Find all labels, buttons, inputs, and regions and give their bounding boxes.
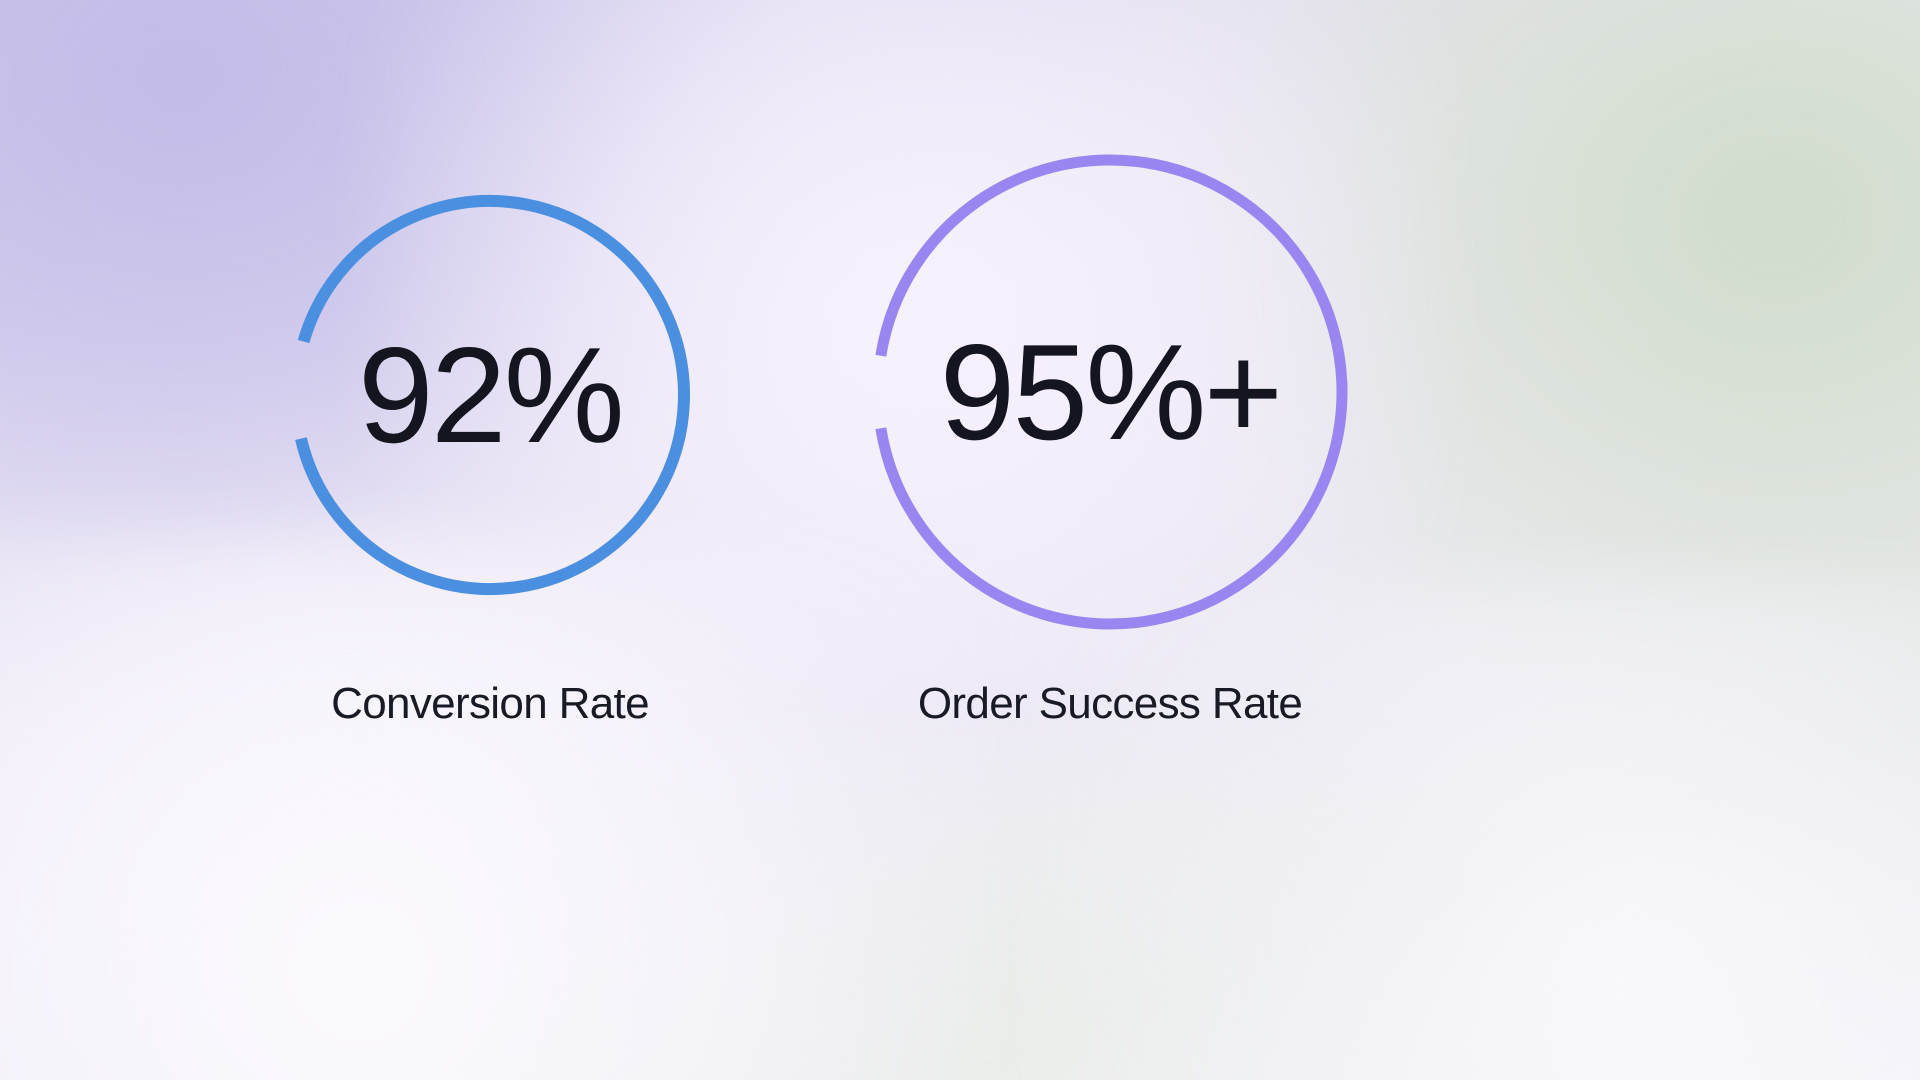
- metric-label-order-success-rate: Order Success Rate: [918, 679, 1302, 729]
- metric-label-conversion-rate: Conversion Rate: [331, 679, 649, 729]
- metrics-row: 92% Conversion Rate 95%+ Order Success R…: [0, 0, 1920, 1080]
- canvas: 92% Conversion Rate 95%+ Order Success R…: [0, 0, 1920, 1080]
- gauge-conversion-rate: 92%: [290, 195, 690, 595]
- gauge-value-conversion-rate: 92%: [290, 195, 690, 595]
- gauge-value-order-success-rate: 95%+: [872, 154, 1348, 630]
- metric-card-conversion-rate: 92% Conversion Rate: [290, 195, 690, 595]
- metric-card-order-success-rate: 95%+ Order Success Rate: [872, 154, 1348, 630]
- gauge-order-success-rate: 95%+: [872, 154, 1348, 630]
